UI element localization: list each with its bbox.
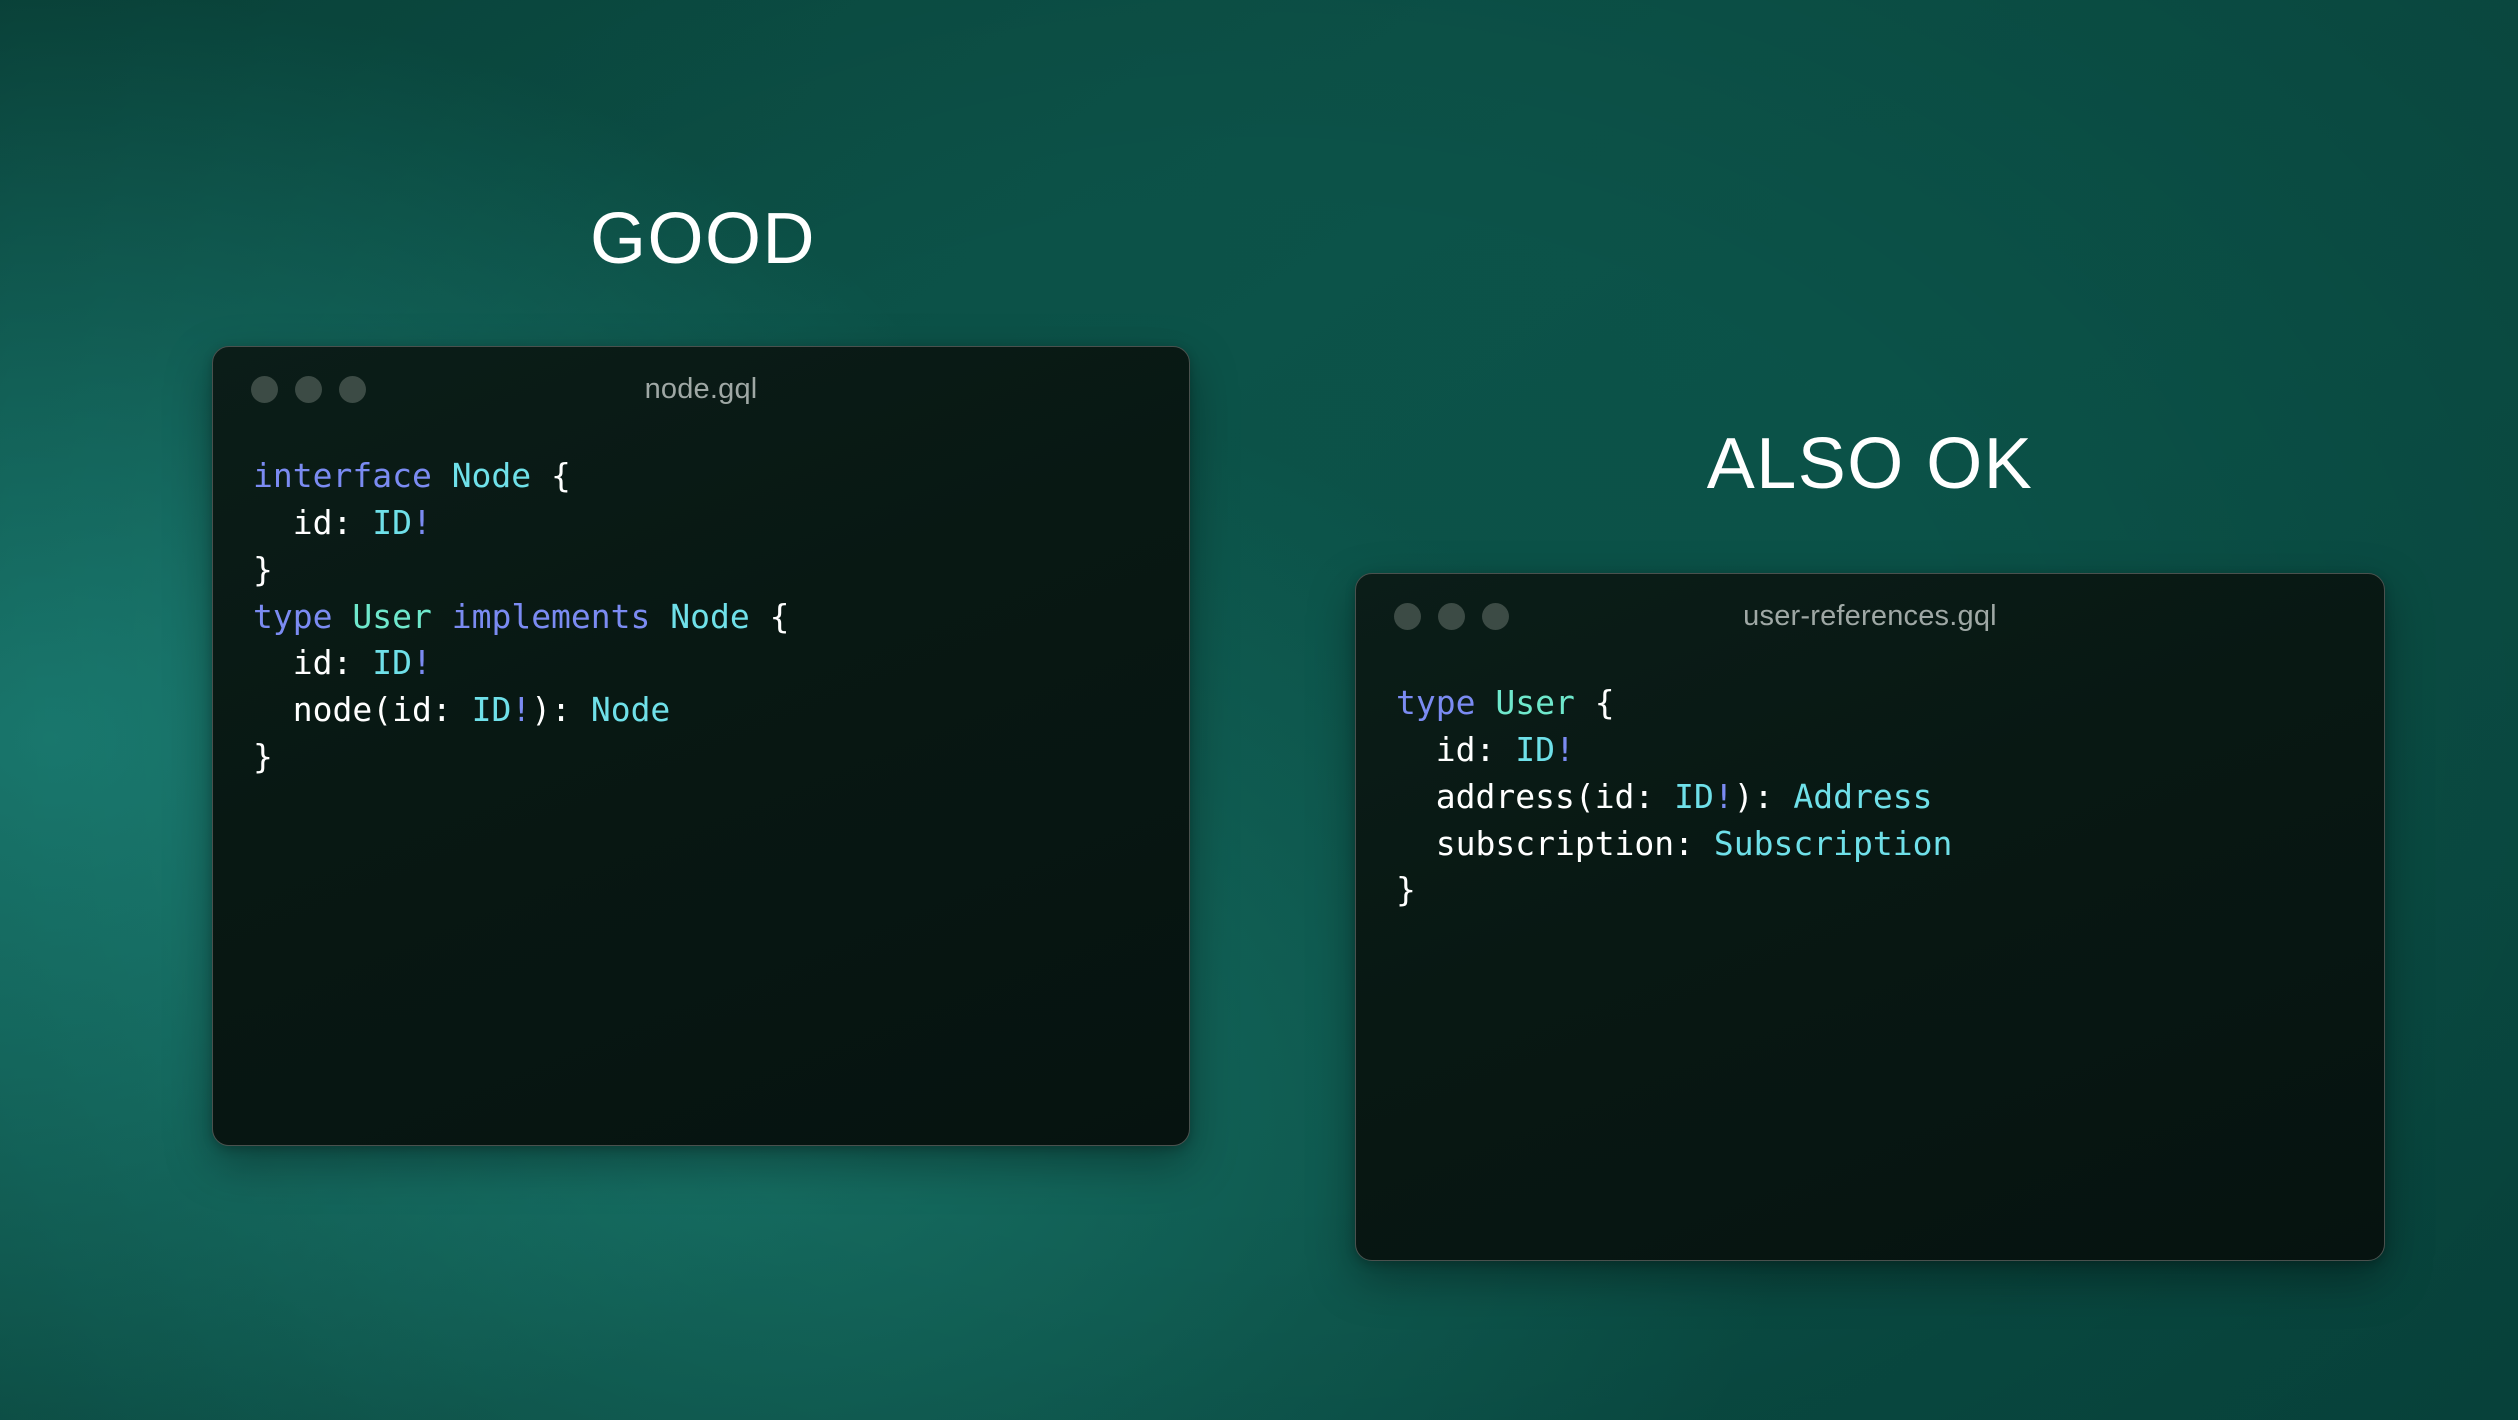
- code-token: [253, 690, 293, 729]
- code-token: ):: [1734, 777, 1774, 816]
- code-token: Subscription: [1714, 824, 1952, 863]
- example-good: GOOD node.gql interface Node { id: ID!}t…: [212, 203, 1194, 275]
- code-token: !: [412, 503, 432, 542]
- code-line: interface Node {: [253, 453, 1189, 500]
- code-token: Node: [591, 690, 670, 729]
- code-token: [1396, 777, 1436, 816]
- example-also-ok: ALSO OK user-references.gql type User { …: [1355, 428, 2385, 500]
- code-token: interface: [253, 456, 432, 495]
- code-token: implements: [452, 597, 651, 636]
- code-token: node(id:: [293, 690, 452, 729]
- code-token: ID: [1674, 777, 1714, 816]
- code-token: type: [1396, 683, 1475, 722]
- code-token: {: [551, 456, 571, 495]
- code-line: subscription: Subscription: [1396, 821, 2384, 868]
- code-window-also-ok[interactable]: user-references.gql type User { id: ID! …: [1355, 573, 2385, 1261]
- code-token: [1654, 777, 1674, 816]
- code-token: User: [1495, 683, 1574, 722]
- code-token: [1475, 683, 1495, 722]
- code-token: ID: [372, 643, 412, 682]
- code-token: {: [770, 597, 790, 636]
- code-token: [571, 690, 591, 729]
- code-window-titlebar: user-references.gql: [1356, 574, 2384, 658]
- code-token: {: [1595, 683, 1615, 722]
- code-line: }: [253, 734, 1189, 781]
- code-token: [253, 643, 293, 682]
- minimize-dot-icon[interactable]: [295, 376, 322, 403]
- code-content-good: interface Node { id: ID!}type User imple…: [213, 431, 1189, 781]
- code-token: ID: [472, 690, 512, 729]
- code-token: Node: [452, 456, 531, 495]
- maximize-dot-icon[interactable]: [339, 376, 366, 403]
- code-token: [1694, 824, 1714, 863]
- code-token: [432, 597, 452, 636]
- code-token: [1396, 824, 1436, 863]
- code-token: ID: [1515, 730, 1555, 769]
- code-token: [1495, 730, 1515, 769]
- code-token: User: [352, 597, 431, 636]
- code-token: !: [511, 690, 531, 729]
- code-token: !: [1555, 730, 1575, 769]
- code-token: [750, 597, 770, 636]
- code-line: type User {: [1396, 680, 2384, 727]
- window-controls: [251, 376, 366, 403]
- code-token: [253, 503, 293, 542]
- code-token: [352, 643, 372, 682]
- heading-also-ok: ALSO OK: [1355, 428, 2385, 500]
- minimize-dot-icon[interactable]: [1438, 603, 1465, 630]
- code-content-also-ok: type User { id: ID! address(id: ID!): Ad…: [1356, 658, 2384, 914]
- code-token: [452, 690, 472, 729]
- code-token: !: [1714, 777, 1734, 816]
- slide-canvas: GOOD node.gql interface Node { id: ID!}t…: [0, 0, 2518, 1420]
- code-token: Node: [670, 597, 749, 636]
- code-token: }: [253, 550, 273, 589]
- close-dot-icon[interactable]: [1394, 603, 1421, 630]
- code-token: ID: [372, 503, 412, 542]
- code-line: }: [253, 547, 1189, 594]
- close-dot-icon[interactable]: [251, 376, 278, 403]
- code-line: id: ID!: [1396, 727, 2384, 774]
- code-token: }: [1396, 870, 1416, 909]
- code-window-titlebar: node.gql: [213, 347, 1189, 431]
- window-controls: [1394, 603, 1509, 630]
- code-token: [531, 456, 551, 495]
- code-token: [352, 503, 372, 542]
- code-token: address(id:: [1436, 777, 1655, 816]
- code-token: type: [253, 597, 332, 636]
- code-line: }: [1396, 867, 2384, 914]
- code-line: id: ID!: [253, 500, 1189, 547]
- code-window-good[interactable]: node.gql interface Node { id: ID!}type U…: [212, 346, 1190, 1146]
- maximize-dot-icon[interactable]: [1482, 603, 1509, 630]
- code-line: type User implements Node {: [253, 594, 1189, 641]
- code-token: ):: [531, 690, 571, 729]
- code-token: id:: [293, 503, 353, 542]
- code-token: subscription:: [1436, 824, 1694, 863]
- code-line: id: ID!: [253, 640, 1189, 687]
- code-token: [432, 456, 452, 495]
- heading-good: GOOD: [212, 203, 1194, 275]
- code-token: Address: [1793, 777, 1932, 816]
- code-token: [650, 597, 670, 636]
- code-token: }: [253, 737, 273, 776]
- code-token: [1774, 777, 1794, 816]
- code-token: !: [412, 643, 432, 682]
- code-token: id:: [293, 643, 353, 682]
- code-window-filename: user-references.gql: [1356, 600, 2384, 633]
- code-token: [332, 597, 352, 636]
- code-token: id:: [1436, 730, 1496, 769]
- code-line: node(id: ID!): Node: [253, 687, 1189, 734]
- code-token: [1396, 730, 1436, 769]
- code-line: address(id: ID!): Address: [1396, 774, 2384, 821]
- code-token: [1575, 683, 1595, 722]
